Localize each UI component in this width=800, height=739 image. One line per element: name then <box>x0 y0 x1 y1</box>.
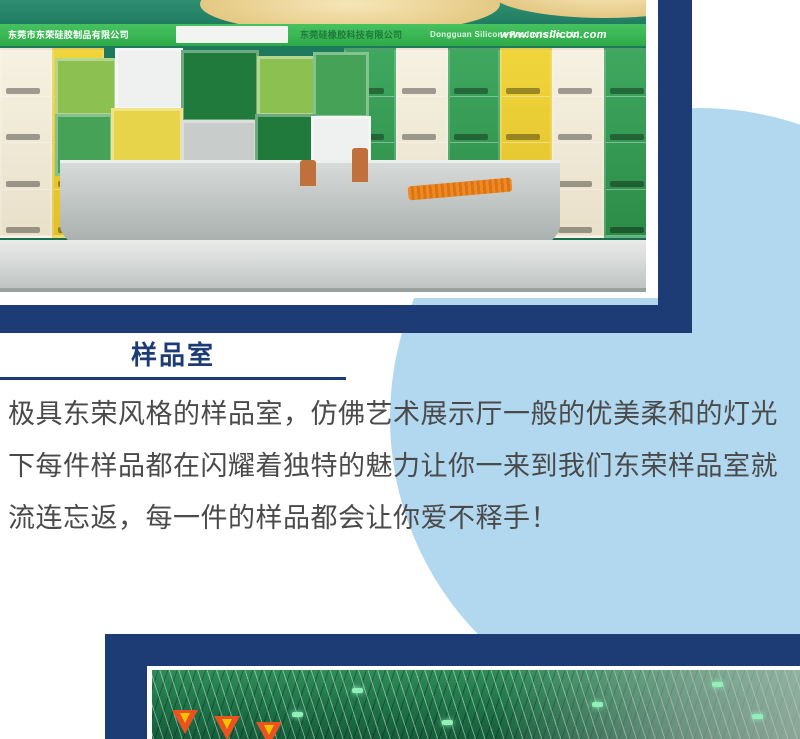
hero-photo-frame: 东莞市东荣硅胶制品有限公司 东莞硅橡胶科技有限公司 Dongguan Silic… <box>0 0 657 298</box>
title-underline <box>0 377 346 380</box>
hanging-banner <box>172 710 198 734</box>
ceiling-light-right <box>490 0 646 18</box>
navy-divider-band <box>0 305 692 333</box>
promo-page: 东莞市东荣硅胶制品有限公司 东莞硅橡胶科技有限公司 Dongguan Silic… <box>0 0 800 739</box>
display-cube <box>55 58 117 116</box>
stool <box>300 160 316 186</box>
ceiling-light <box>292 712 303 717</box>
display-cube <box>313 52 369 118</box>
signboard-band: 东莞市东荣硅胶制品有限公司 东莞硅橡胶科技有限公司 Dongguan Silic… <box>0 24 646 46</box>
showroom-photo: 东莞市东荣硅胶制品有限公司 东莞硅橡胶科技有限公司 Dongguan Silic… <box>0 0 646 292</box>
factory-ceiling-photo <box>152 670 800 739</box>
shelf-column <box>604 48 646 238</box>
page-title: 样品室 <box>0 338 346 372</box>
shelf-column <box>0 48 52 238</box>
display-cube <box>115 48 183 110</box>
photo-white-border <box>646 0 658 298</box>
signboard-website: www.cnsilicon.com <box>500 27 607 43</box>
display-cube <box>257 56 317 116</box>
front-counter <box>0 240 646 292</box>
ceiling-light <box>752 714 763 719</box>
navy-vertical-accent-bar <box>658 0 692 333</box>
signboard-text-2: 东莞硅橡胶科技有限公司 <box>300 27 402 43</box>
hanging-banner <box>214 716 240 739</box>
display-cube <box>181 50 259 122</box>
stool <box>352 148 368 182</box>
ceiling-light <box>592 702 603 707</box>
bottom-photo-frame <box>147 666 800 739</box>
ceiling-light <box>352 688 363 693</box>
ceiling-light <box>442 720 453 725</box>
floor <box>0 288 646 292</box>
ceiling-light-reflection <box>502 670 800 739</box>
ceiling-light <box>712 682 723 687</box>
signboard-text-1: 东莞市东荣硅胶制品有限公司 <box>8 27 129 43</box>
section-paragraph: 极具东荣风格的样品室，仿佛艺术展示厅一般的优美柔和的灯光下每件样品都在闪耀着独特… <box>8 388 778 544</box>
hanging-banner <box>256 722 282 739</box>
signboard-plate-white-1 <box>176 26 288 43</box>
section-title-block: 样品室 <box>0 338 346 380</box>
